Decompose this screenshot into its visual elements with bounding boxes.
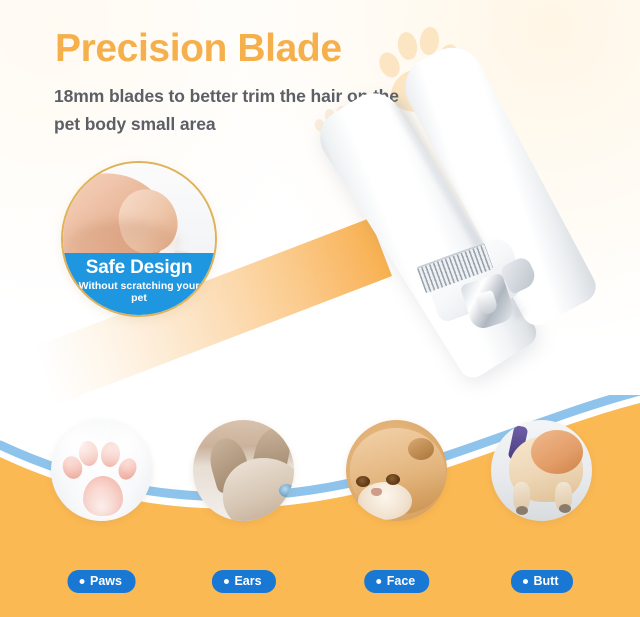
- feature-label-text: Paws: [90, 574, 122, 588]
- bottom-panel: Paws Ears: [0, 395, 640, 617]
- feature-label-text: Ears: [234, 574, 261, 588]
- feature-image-face: [346, 420, 447, 521]
- page-title: Precision Blade: [55, 27, 342, 71]
- product-feature-graphic: Precision Blade 18mm blades to better tr…: [0, 0, 640, 617]
- feature-label-ears[interactable]: Ears: [211, 570, 275, 593]
- safe-design-title: Safe Design: [63, 257, 215, 279]
- safe-design-subtitle: Without scratching your pet: [63, 279, 215, 304]
- feature-image-butt: [491, 420, 592, 521]
- feature-label-face[interactable]: Face: [364, 570, 430, 593]
- feature-label-text: Butt: [534, 574, 559, 588]
- bullet-dot-icon: [523, 579, 528, 584]
- feature-label-paws[interactable]: Paws: [67, 570, 136, 593]
- safe-design-banner: Safe Design Without scratching your pet: [63, 253, 215, 315]
- pet-trimmer-photo: [404, 96, 640, 320]
- feature-image-paws: [51, 420, 152, 521]
- feature-label-butt[interactable]: Butt: [511, 570, 573, 593]
- bullet-dot-icon: [223, 579, 228, 584]
- bullet-dot-icon: [376, 579, 381, 584]
- feature-label-text: Face: [387, 574, 416, 588]
- safe-design-inset: Safe Design Without scratching your pet: [61, 161, 217, 317]
- feature-image-ears: [193, 420, 294, 521]
- bullet-dot-icon: [79, 579, 84, 584]
